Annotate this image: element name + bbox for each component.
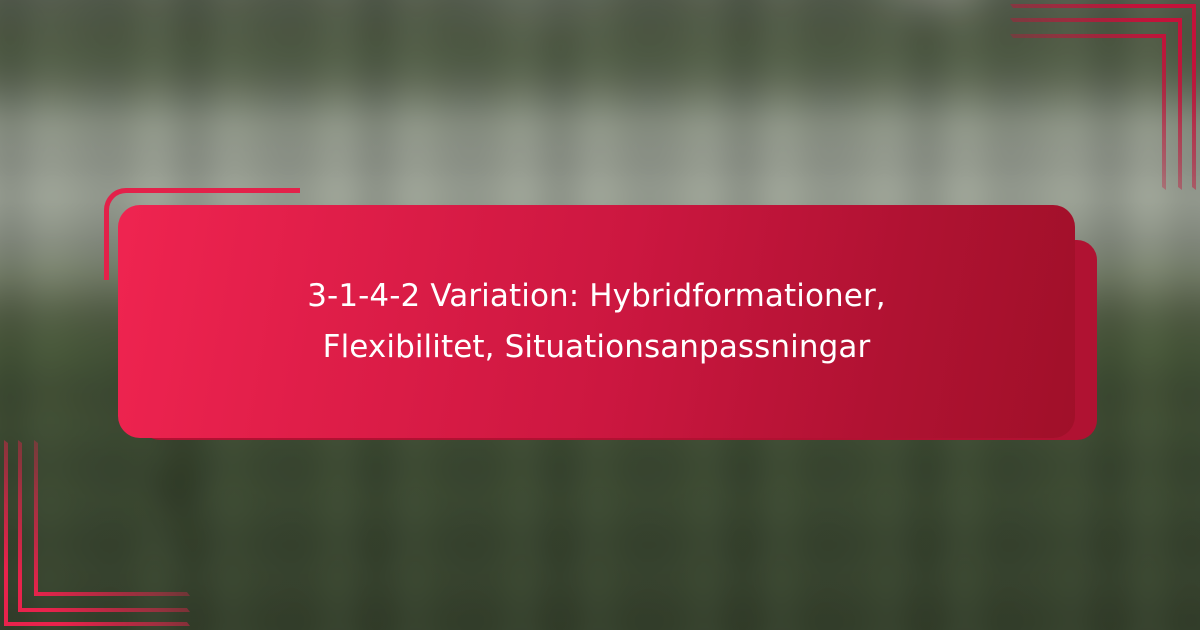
title-banner-group: 3-1-4-2 Variation: Hybridformationer, Fl… xyxy=(0,0,1200,630)
title-card: 3-1-4-2 Variation: Hybridformationer, Fl… xyxy=(118,205,1075,438)
page-title: 3-1-4-2 Variation: Hybridformationer, Fl… xyxy=(277,271,917,371)
share-card-canvas: 3-1-4-2 Variation: Hybridformationer, Fl… xyxy=(0,0,1200,630)
